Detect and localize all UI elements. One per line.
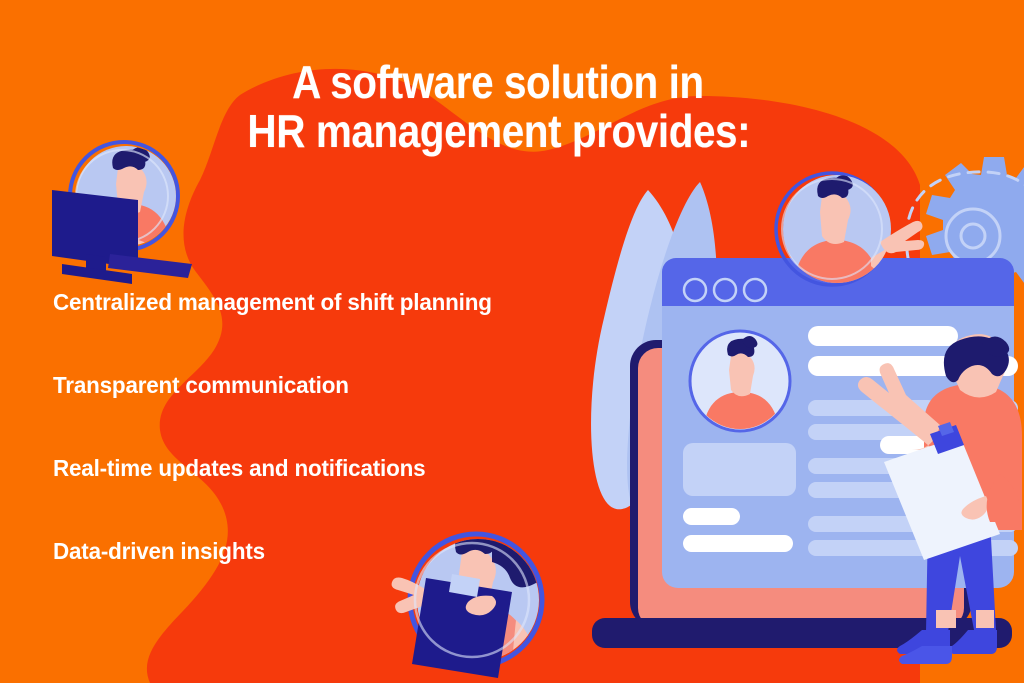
content-bar-white — [683, 535, 793, 552]
list-item: Data-driven insights — [53, 537, 588, 565]
list-item: Transparent communication — [53, 371, 588, 399]
poster-canvas: A software solution in HR management pro… — [0, 0, 1024, 683]
content-bar-white — [683, 508, 740, 525]
clipboard-icon — [412, 574, 512, 678]
panel-block — [683, 443, 796, 496]
benefits-list: Centralized management of shift planning… — [53, 288, 613, 565]
list-item: Real-time updates and notifications — [53, 454, 588, 482]
list-item: Centralized management of shift planning — [53, 288, 588, 316]
content-bar-white — [808, 326, 958, 346]
